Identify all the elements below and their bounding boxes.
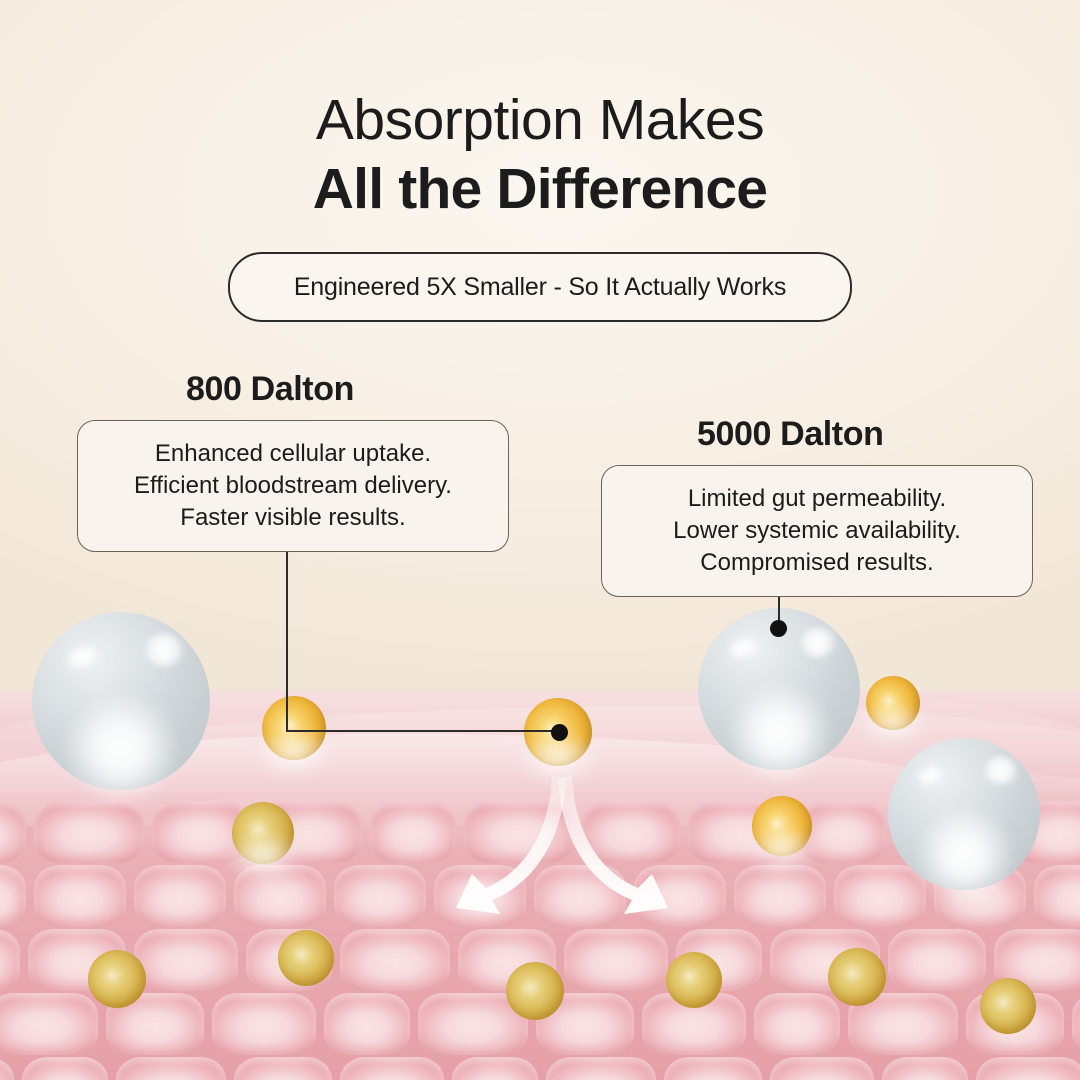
infographic-canvas: Absorption Makes All the Difference Engi…: [0, 0, 1080, 1080]
gold-molecule: [752, 796, 812, 856]
pearl-glow: [724, 683, 834, 783]
page-title: Absorption Makes All the Difference: [0, 92, 1080, 218]
left-leader-endpoint-dot: [551, 724, 568, 741]
skin-cell: [464, 801, 574, 863]
right-leader-endpoint-dot: [770, 620, 787, 637]
skin-cell: [976, 1057, 1080, 1080]
gold-molecule: [666, 952, 722, 1008]
skin-cell: [134, 929, 238, 991]
gold-molecule: [828, 948, 886, 1006]
skin-cell: [116, 1057, 226, 1080]
skin-cell: [734, 865, 826, 927]
gold-molecule: [866, 676, 920, 730]
skin-cell: [582, 801, 680, 863]
pearl-highlight: [982, 756, 1018, 785]
gold-glow: [858, 707, 927, 746]
gold-molecule: [278, 930, 334, 986]
skin-cell: [234, 1057, 332, 1080]
headline-line-1: Absorption Makes: [0, 92, 1080, 149]
skin-cell: [1072, 993, 1080, 1055]
skin-cell: [0, 993, 98, 1055]
left-panel-title: 800 Dalton: [186, 370, 354, 409]
skin-cell: [340, 1057, 444, 1080]
left-benefit-2: Efficient bloodstream delivery.: [134, 470, 452, 502]
gold-molecule: [232, 802, 294, 864]
gold-glow: [514, 737, 601, 786]
gold-body: [828, 948, 886, 1006]
skin-cell: [888, 929, 986, 991]
skin-cell: [634, 865, 726, 927]
skin-cell: [546, 1057, 656, 1080]
gold-body: [666, 952, 722, 1008]
skin-cell: [324, 993, 410, 1055]
skin-cell: [0, 929, 20, 991]
skin-cell: [334, 865, 426, 927]
skin-cell: [212, 993, 316, 1055]
pearl-molecule: [888, 738, 1040, 890]
skin-cell: [452, 1057, 538, 1080]
gold-molecule: [262, 696, 326, 760]
skin-cell: [0, 865, 26, 927]
gold-glow: [223, 838, 302, 883]
skin-cell: [34, 801, 144, 863]
left-benefit-3: Faster visible results.: [134, 502, 452, 534]
pearl-glow: [912, 808, 1015, 902]
skin-cell: [434, 865, 526, 927]
gold-body: [506, 962, 564, 1020]
skin-cell: [754, 993, 840, 1055]
right-drawback-1: Limited gut permeability.: [673, 483, 961, 515]
skin-cell: [0, 801, 26, 863]
headline-line-2: All the Difference: [0, 161, 1080, 218]
pearl-glow: [60, 694, 181, 804]
skin-cell: [882, 1057, 968, 1080]
subheadline-text: Engineered 5X Smaller - So It Actually W…: [294, 273, 786, 302]
right-drawback-2: Lower systemic availability.: [673, 515, 961, 547]
right-panel-callout: Limited gut permeability. Lower systemic…: [601, 465, 1033, 597]
skin-cell: [534, 865, 626, 927]
left-benefit-1: Enhanced cellular uptake.: [134, 438, 452, 470]
left-panel-callout: Enhanced cellular uptake. Efficient bloo…: [77, 420, 509, 552]
gold-body: [88, 950, 146, 1008]
skin-cell-row: [0, 1054, 1080, 1080]
skin-cell: [770, 1057, 874, 1080]
right-panel-title: 5000 Dalton: [697, 415, 883, 454]
skin-cell: [1034, 865, 1080, 927]
gold-molecule: [980, 978, 1036, 1034]
gold-glow: [253, 733, 335, 779]
gold-molecule: [88, 950, 146, 1008]
skin-cell: [134, 865, 226, 927]
left-leader-line-vertical: [286, 552, 288, 732]
gold-glow: [744, 831, 821, 874]
gold-body: [278, 930, 334, 986]
skin-cell: [22, 1057, 108, 1080]
left-leader-line-horizontal: [286, 730, 560, 732]
skin-cell: [34, 865, 126, 927]
skin-cell: [664, 1057, 762, 1080]
skin-cell: [370, 801, 456, 863]
skin-cell: [0, 1057, 14, 1080]
subheadline-pill: Engineered 5X Smaller - So It Actually W…: [228, 252, 852, 322]
gold-molecule: [506, 962, 564, 1020]
pearl-highlight: [142, 633, 185, 667]
skin-cell: [834, 865, 926, 927]
skin-cell: [340, 929, 450, 991]
right-drawback-3: Compromised results.: [673, 547, 961, 579]
pearl-molecule: [32, 612, 210, 790]
skin-cell: [564, 929, 668, 991]
gold-body: [980, 978, 1036, 1034]
